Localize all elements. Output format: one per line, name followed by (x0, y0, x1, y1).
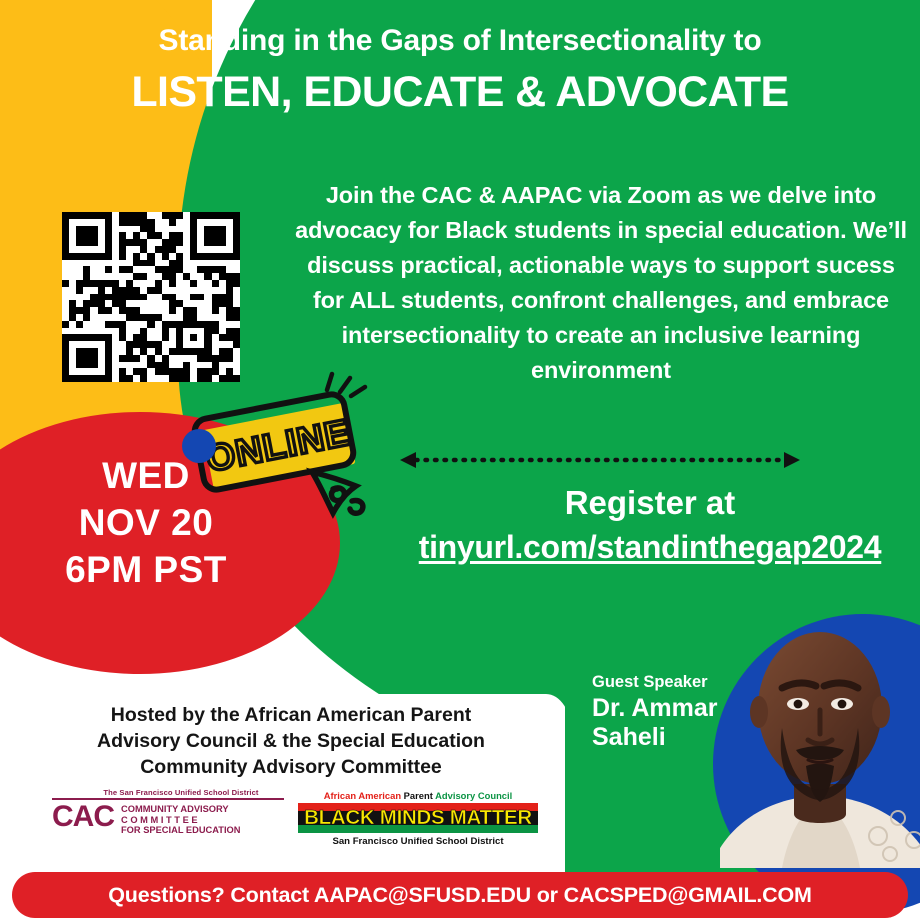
register-url-link[interactable]: tinyurl.com/standinthegap2024 (390, 524, 910, 570)
aapac-header-black: Parent (404, 790, 433, 801)
speaker-name-line-1: Dr. Ammar (592, 694, 772, 723)
poster-title: Standing in the Gaps of Intersectionalit… (0, 24, 920, 120)
sticker-blue-dot (182, 429, 216, 463)
description-paragraph: Join the CAC & AAPAC via Zoom as we delv… (292, 178, 910, 388)
aapac-logo: African American Parent Advisory Council… (298, 790, 538, 847)
contact-footer-bar: Questions? Contact AAPAC@SFUSD.EDU or CA… (12, 872, 908, 918)
contact-footer-text: Questions? Contact AAPAC@SFUSD.EDU or CA… (108, 883, 811, 908)
black-minds-matter-text: BLACK MINDS MATTER (298, 803, 538, 833)
register-label: Register at (390, 482, 910, 524)
cac-line-3: FOR SPECIAL EDUCATION (121, 825, 241, 836)
aapac-header-line: African American Parent Advisory Council (298, 790, 538, 802)
aapac-header-red: African American (324, 790, 401, 801)
dotted-double-arrow (400, 448, 800, 472)
logo-row: The San Francisco Unified School Distric… (30, 788, 550, 864)
title-line-1: Standing in the Gaps of Intersectionalit… (0, 24, 920, 58)
online-sticker: ONLINE (176, 368, 396, 528)
speaker-text-block: Guest Speaker Dr. Ammar Saheli (592, 672, 772, 752)
qr-code[interactable] (62, 212, 240, 382)
title-line-2: LISTEN, EDUCATE & ADVOCATE (0, 64, 920, 120)
aapac-district-line: San Francisco Unified School District (298, 836, 538, 847)
hosted-by-text: Hosted by the African American Parent Ad… (36, 702, 546, 780)
hosted-line-3: Community Advisory Committee (36, 754, 546, 780)
speaker-label: Guest Speaker (592, 672, 772, 692)
speaker-name-line-2: Saheli (592, 723, 772, 752)
cac-wordmark: CAC (52, 802, 114, 832)
hosted-line-1: Hosted by the African American Parent (36, 702, 546, 728)
cac-logo: The San Francisco Unified School Distric… (52, 788, 284, 836)
cac-district-line: The San Francisco Unified School Distric… (52, 788, 284, 797)
aapac-header-green: Advisory Council (435, 790, 512, 801)
sticker-cursor-doodle (312, 472, 363, 513)
event-flyer: Standing in the Gaps of Intersectionalit… (0, 0, 920, 920)
cac-line-2: COMMITTEE (121, 815, 241, 826)
registration-block: Register at tinyurl.com/standinthegap202… (390, 482, 910, 570)
event-time: 6PM PST (26, 546, 266, 593)
cac-line-1: COMMUNITY ADVISORY (121, 804, 241, 815)
hosted-line-2: Advisory Council & the Special Education (36, 728, 546, 754)
speaker-name: Dr. Ammar Saheli (592, 694, 772, 752)
aapac-flag-banner: BLACK MINDS MATTER (298, 803, 538, 833)
